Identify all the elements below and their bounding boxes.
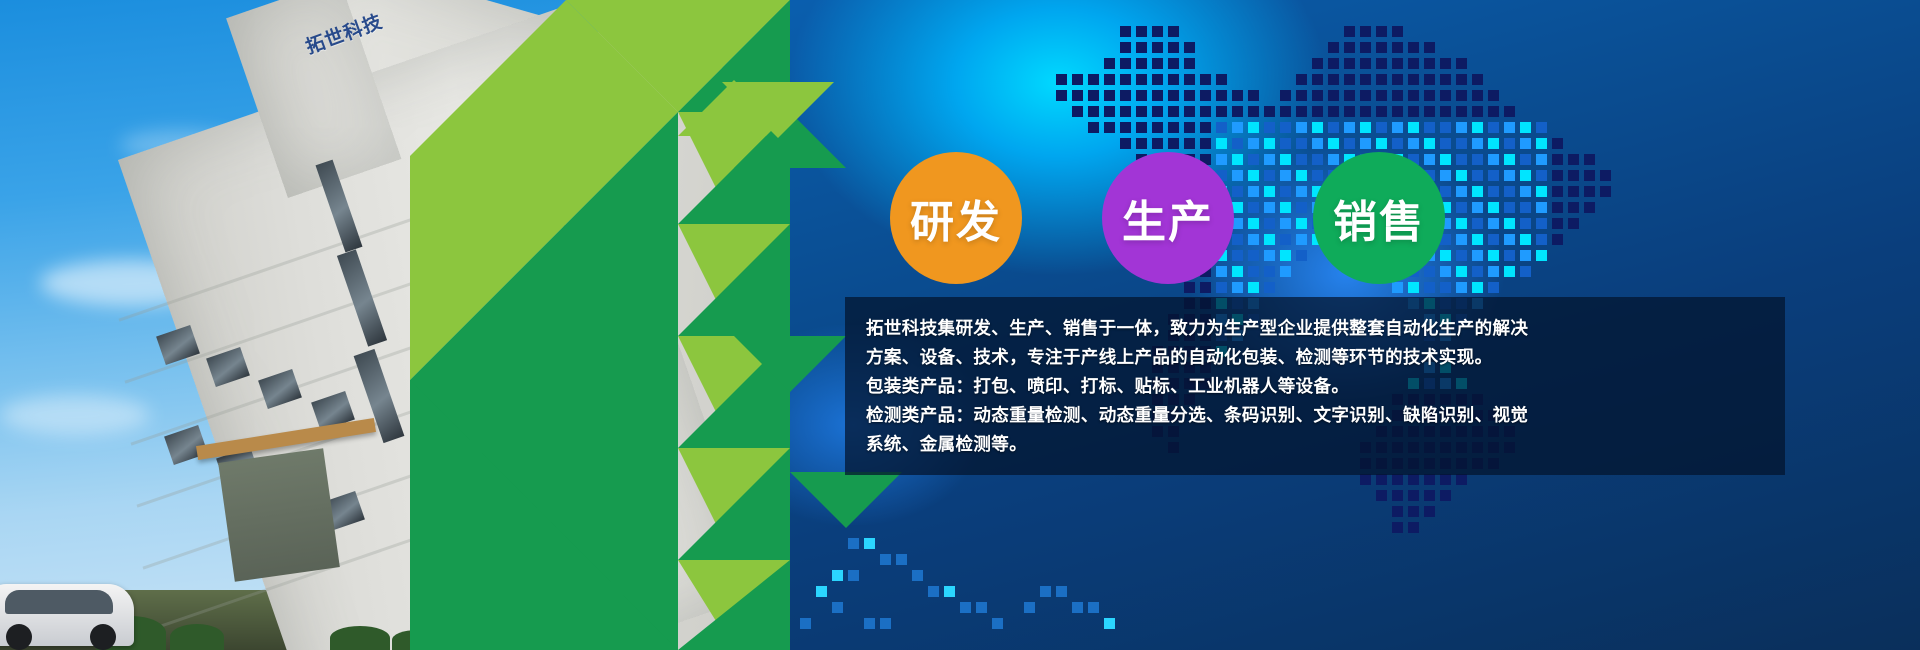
map-dot bbox=[1440, 58, 1451, 69]
map-dot bbox=[1408, 74, 1419, 85]
map-dot bbox=[1472, 234, 1483, 245]
map-dot bbox=[1232, 266, 1243, 277]
map-dot bbox=[1200, 90, 1211, 101]
map-dot bbox=[1312, 122, 1323, 133]
map-dot bbox=[1456, 154, 1467, 165]
map-dot bbox=[1536, 218, 1547, 229]
map-dot bbox=[1120, 106, 1131, 117]
map-dot bbox=[1552, 218, 1563, 229]
map-dot bbox=[1376, 122, 1387, 133]
map-dot bbox=[1536, 170, 1547, 181]
map-dot bbox=[1232, 90, 1243, 101]
map-dot bbox=[1408, 474, 1419, 485]
map-dot bbox=[1392, 90, 1403, 101]
map-dot bbox=[1056, 90, 1067, 101]
map-dot bbox=[1296, 138, 1307, 149]
map-dot bbox=[1200, 282, 1211, 293]
map-dot bbox=[1488, 170, 1499, 181]
description-line: 检测类产品：动态重量检测、动态重量分选、条码识别、文字识别、缺陷识别、视觉 bbox=[866, 402, 1766, 431]
map-dot bbox=[1184, 122, 1195, 133]
map-dot bbox=[1216, 106, 1227, 117]
map-dot bbox=[1456, 122, 1467, 133]
map-dot bbox=[1216, 122, 1227, 133]
map-dot bbox=[1168, 26, 1179, 37]
map-dot bbox=[1168, 90, 1179, 101]
map-dot bbox=[1280, 202, 1291, 213]
map-dot bbox=[1408, 282, 1419, 293]
map-dot bbox=[1264, 234, 1275, 245]
map-dot bbox=[1408, 138, 1419, 149]
map-dot bbox=[1312, 106, 1323, 117]
description-line: 拓世科技集研发、生产、销售于一体，致力为生产型企业提供整套自动化生产的解决 bbox=[866, 315, 1766, 344]
map-dot bbox=[1472, 90, 1483, 101]
map-dot bbox=[1232, 282, 1243, 293]
map-dot bbox=[1456, 58, 1467, 69]
map-dot bbox=[1536, 186, 1547, 197]
map-dot bbox=[1184, 58, 1195, 69]
map-dot bbox=[1152, 42, 1163, 53]
map-dot bbox=[1328, 122, 1339, 133]
map-dot bbox=[1152, 138, 1163, 149]
map-dot bbox=[1168, 42, 1179, 53]
map-dot bbox=[1232, 234, 1243, 245]
map-dot bbox=[1040, 586, 1051, 597]
map-dot bbox=[1520, 202, 1531, 213]
map-dot bbox=[1216, 282, 1227, 293]
map-dot bbox=[1088, 90, 1099, 101]
map-dot bbox=[1408, 490, 1419, 501]
map-dot bbox=[1440, 170, 1451, 181]
map-dot bbox=[1232, 250, 1243, 261]
map-dot bbox=[1504, 138, 1515, 149]
map-dot bbox=[1232, 138, 1243, 149]
map-dot bbox=[1392, 26, 1403, 37]
map-dot bbox=[1280, 90, 1291, 101]
map-dot bbox=[1280, 170, 1291, 181]
map-dot bbox=[1504, 202, 1515, 213]
map-dot bbox=[1120, 90, 1131, 101]
map-dot bbox=[1152, 26, 1163, 37]
map-dot bbox=[1344, 90, 1355, 101]
map-dot bbox=[1120, 42, 1131, 53]
map-dot bbox=[1296, 170, 1307, 181]
map-dot bbox=[1328, 74, 1339, 85]
map-dot bbox=[1168, 74, 1179, 85]
map-dot bbox=[1424, 122, 1435, 133]
map-dot bbox=[1312, 74, 1323, 85]
map-dot bbox=[1360, 90, 1371, 101]
map-dot bbox=[1344, 138, 1355, 149]
map-dot bbox=[1488, 282, 1499, 293]
map-dot bbox=[1440, 282, 1451, 293]
map-dot bbox=[1488, 202, 1499, 213]
map-dot bbox=[1392, 282, 1403, 293]
map-dot bbox=[1472, 186, 1483, 197]
map-dot bbox=[1472, 74, 1483, 85]
map-dot bbox=[1280, 186, 1291, 197]
map-dot bbox=[1200, 74, 1211, 85]
map-dot bbox=[1552, 234, 1563, 245]
map-dot bbox=[1504, 186, 1515, 197]
map-dot bbox=[1264, 138, 1275, 149]
map-dot bbox=[1136, 26, 1147, 37]
map-dot bbox=[1488, 186, 1499, 197]
map-dot bbox=[1136, 90, 1147, 101]
map-dot bbox=[1120, 138, 1131, 149]
map-dot bbox=[1424, 106, 1435, 117]
map-dot bbox=[1200, 122, 1211, 133]
map-dot bbox=[1264, 250, 1275, 261]
map-dot bbox=[1584, 170, 1595, 181]
map-dot bbox=[1424, 282, 1435, 293]
map-dot bbox=[1360, 42, 1371, 53]
map-dot bbox=[1488, 234, 1499, 245]
map-dot bbox=[1280, 138, 1291, 149]
map-dot bbox=[1360, 138, 1371, 149]
map-dot bbox=[1136, 122, 1147, 133]
map-dot bbox=[1520, 154, 1531, 165]
map-dot bbox=[1248, 90, 1259, 101]
map-dot bbox=[1248, 218, 1259, 229]
map-dot bbox=[1392, 506, 1403, 517]
map-dot bbox=[1360, 26, 1371, 37]
map-dot bbox=[1136, 42, 1147, 53]
map-dot bbox=[1328, 42, 1339, 53]
map-dot bbox=[1216, 138, 1227, 149]
description-text: 拓世科技集研发、生产、销售于一体，致力为生产型企业提供整套自动化生产的解决 方案… bbox=[866, 315, 1766, 460]
map-dot bbox=[1488, 138, 1499, 149]
map-dot bbox=[1328, 138, 1339, 149]
map-dot bbox=[1536, 234, 1547, 245]
map-dot bbox=[1504, 266, 1515, 277]
map-dot bbox=[1152, 74, 1163, 85]
map-dot bbox=[1408, 58, 1419, 69]
map-dot bbox=[1232, 122, 1243, 133]
map-dot bbox=[1376, 490, 1387, 501]
map-dot bbox=[1360, 74, 1371, 85]
map-dot bbox=[1488, 218, 1499, 229]
map-dot bbox=[1504, 218, 1515, 229]
map-dot bbox=[1200, 138, 1211, 149]
map-dot bbox=[1328, 90, 1339, 101]
map-dot bbox=[1232, 154, 1243, 165]
map-dot bbox=[1376, 42, 1387, 53]
map-dot bbox=[1392, 58, 1403, 69]
map-dot bbox=[1440, 266, 1451, 277]
map-dot bbox=[1520, 234, 1531, 245]
map-dot bbox=[1392, 42, 1403, 53]
map-dot bbox=[1264, 218, 1275, 229]
map-dot bbox=[1504, 106, 1515, 117]
map-dot bbox=[1552, 138, 1563, 149]
map-dot bbox=[1296, 218, 1307, 229]
map-dot bbox=[1344, 74, 1355, 85]
map-dot bbox=[1104, 58, 1115, 69]
map-dot bbox=[1248, 202, 1259, 213]
map-dot bbox=[1248, 234, 1259, 245]
map-dot bbox=[1440, 250, 1451, 261]
map-dot bbox=[1152, 58, 1163, 69]
map-dot bbox=[1440, 74, 1451, 85]
map-dot bbox=[1280, 234, 1291, 245]
map-dot bbox=[1056, 74, 1067, 85]
map-dot bbox=[1184, 106, 1195, 117]
map-dot bbox=[1104, 106, 1115, 117]
map-dot bbox=[1536, 138, 1547, 149]
map-dot bbox=[1568, 154, 1579, 165]
map-dot bbox=[1312, 58, 1323, 69]
map-dot bbox=[1152, 122, 1163, 133]
map-dot bbox=[1280, 122, 1291, 133]
map-dot bbox=[1456, 170, 1467, 181]
map-dot bbox=[1120, 26, 1131, 37]
map-dot bbox=[1456, 202, 1467, 213]
map-dot bbox=[1440, 90, 1451, 101]
description-line: 系统、金属检测等。 bbox=[866, 431, 1766, 460]
map-dot bbox=[1248, 170, 1259, 181]
map-dot bbox=[1568, 202, 1579, 213]
badge-circle-rd[interactable]: 研发 bbox=[890, 152, 1022, 284]
map-dot bbox=[1184, 282, 1195, 293]
map-dot bbox=[1424, 58, 1435, 69]
map-dot bbox=[1392, 138, 1403, 149]
map-dot bbox=[1488, 266, 1499, 277]
map-dot bbox=[1072, 90, 1083, 101]
map-dot bbox=[1456, 106, 1467, 117]
map-dot bbox=[1360, 106, 1371, 117]
map-dot bbox=[1440, 490, 1451, 501]
map-dot bbox=[1456, 218, 1467, 229]
map-dot bbox=[1456, 474, 1467, 485]
map-dot bbox=[1136, 74, 1147, 85]
map-dot bbox=[1280, 250, 1291, 261]
map-dot bbox=[1504, 170, 1515, 181]
map-dot bbox=[1440, 186, 1451, 197]
map-dot bbox=[1344, 58, 1355, 69]
map-dot bbox=[1456, 138, 1467, 149]
map-dot bbox=[1584, 186, 1595, 197]
map-dot bbox=[1504, 234, 1515, 245]
map-dot bbox=[1024, 602, 1035, 613]
map-dot bbox=[1248, 106, 1259, 117]
map-dot bbox=[1072, 602, 1083, 613]
map-dot bbox=[1568, 170, 1579, 181]
map-dot bbox=[1440, 474, 1451, 485]
description-line: 方案、设备、技术，专注于产线上产品的自动化包装、检测等环节的技术实现。 bbox=[866, 344, 1766, 373]
map-dot bbox=[1520, 122, 1531, 133]
map-dot bbox=[1232, 186, 1243, 197]
map-dot bbox=[1408, 106, 1419, 117]
map-dot bbox=[1536, 250, 1547, 261]
map-dot bbox=[1104, 74, 1115, 85]
map-dot bbox=[1408, 90, 1419, 101]
map-dot bbox=[1488, 106, 1499, 117]
map-dot bbox=[1392, 74, 1403, 85]
map-dot bbox=[1520, 218, 1531, 229]
map-dot bbox=[1376, 90, 1387, 101]
badge-circle-sales[interactable]: 销售 bbox=[1313, 152, 1445, 284]
map-dot bbox=[1488, 90, 1499, 101]
map-dot bbox=[1216, 266, 1227, 277]
map-dot bbox=[1472, 106, 1483, 117]
map-dot bbox=[1056, 586, 1067, 597]
map-dot bbox=[1344, 42, 1355, 53]
map-dot bbox=[1168, 58, 1179, 69]
triangle-float-dark-c bbox=[790, 472, 902, 528]
badge-label-production: 生产 bbox=[1122, 186, 1214, 250]
map-dot bbox=[1296, 234, 1307, 245]
map-dot bbox=[1424, 138, 1435, 149]
map-dot bbox=[1248, 186, 1259, 197]
map-dot bbox=[1536, 122, 1547, 133]
map-dot bbox=[1504, 250, 1515, 261]
map-dot bbox=[1184, 74, 1195, 85]
map-dot bbox=[1216, 90, 1227, 101]
map-dot bbox=[1088, 74, 1099, 85]
map-dot bbox=[1376, 138, 1387, 149]
map-dot bbox=[1232, 106, 1243, 117]
map-dot bbox=[1328, 154, 1339, 165]
map-dot bbox=[1328, 106, 1339, 117]
map-dot bbox=[1376, 106, 1387, 117]
map-dot bbox=[1264, 202, 1275, 213]
map-dot bbox=[1088, 106, 1099, 117]
map-dot bbox=[1104, 618, 1115, 629]
map-dot bbox=[1280, 218, 1291, 229]
map-dot bbox=[1392, 522, 1403, 533]
map-dot bbox=[1456, 90, 1467, 101]
map-dot bbox=[1520, 170, 1531, 181]
banner-stage: 拓世科技 研发 生产 销售 拓世科技集研发、生产、销售于一体，致力为生产型企业提… bbox=[0, 0, 1920, 650]
map-dot bbox=[1184, 90, 1195, 101]
map-dot bbox=[1552, 202, 1563, 213]
map-dot bbox=[1472, 218, 1483, 229]
map-dot bbox=[1296, 154, 1307, 165]
map-dot bbox=[1312, 154, 1323, 165]
map-dot bbox=[1408, 522, 1419, 533]
map-dot bbox=[1232, 170, 1243, 181]
map-dot bbox=[1392, 106, 1403, 117]
map-dot bbox=[1120, 122, 1131, 133]
map-dot bbox=[1376, 58, 1387, 69]
map-dot bbox=[1520, 186, 1531, 197]
map-dot bbox=[1584, 154, 1595, 165]
map-dot bbox=[1600, 170, 1611, 181]
map-dot bbox=[1488, 250, 1499, 261]
map-dot bbox=[1248, 154, 1259, 165]
map-dot bbox=[1088, 122, 1099, 133]
map-dot bbox=[1424, 154, 1435, 165]
map-dot bbox=[1456, 250, 1467, 261]
map-dot bbox=[1440, 138, 1451, 149]
map-dot bbox=[1504, 154, 1515, 165]
map-dot bbox=[1248, 138, 1259, 149]
map-dot bbox=[1360, 122, 1371, 133]
map-dot bbox=[1264, 170, 1275, 181]
map-dot bbox=[1184, 42, 1195, 53]
map-dot bbox=[1536, 202, 1547, 213]
map-dot bbox=[1072, 106, 1083, 117]
map-dot bbox=[1344, 106, 1355, 117]
badge-label-rd: 研发 bbox=[910, 186, 1002, 250]
map-dot bbox=[1472, 266, 1483, 277]
map-dot bbox=[1376, 474, 1387, 485]
map-dot bbox=[1248, 250, 1259, 261]
map-dot bbox=[1216, 74, 1227, 85]
map-dot bbox=[1424, 490, 1435, 501]
map-dot bbox=[1488, 154, 1499, 165]
map-dot bbox=[1408, 506, 1419, 517]
map-dot bbox=[1552, 186, 1563, 197]
map-dot bbox=[1328, 58, 1339, 69]
map-dot bbox=[1392, 490, 1403, 501]
map-dot bbox=[1296, 90, 1307, 101]
map-dot bbox=[1296, 122, 1307, 133]
map-dot bbox=[1520, 250, 1531, 261]
map-dot bbox=[1360, 474, 1371, 485]
map-dot bbox=[1104, 122, 1115, 133]
map-dot bbox=[1120, 74, 1131, 85]
map-dot bbox=[1472, 170, 1483, 181]
map-dot bbox=[1440, 154, 1451, 165]
map-dot bbox=[1168, 106, 1179, 117]
map-dot bbox=[1312, 138, 1323, 149]
map-dot bbox=[1376, 74, 1387, 85]
map-dot bbox=[1216, 154, 1227, 165]
map-dot bbox=[1200, 106, 1211, 117]
map-dot bbox=[1552, 170, 1563, 181]
map-dot bbox=[1264, 186, 1275, 197]
map-dot bbox=[1264, 266, 1275, 277]
map-dot bbox=[1248, 266, 1259, 277]
map-dot bbox=[1264, 282, 1275, 293]
map-dot bbox=[1312, 170, 1323, 181]
map-dot bbox=[1456, 234, 1467, 245]
map-dot bbox=[1152, 90, 1163, 101]
map-dot bbox=[1424, 266, 1435, 277]
map-dot bbox=[1296, 106, 1307, 117]
map-dot bbox=[1568, 186, 1579, 197]
map-dot bbox=[1280, 266, 1291, 277]
map-dot bbox=[1088, 602, 1099, 613]
map-dot bbox=[1280, 106, 1291, 117]
map-dot bbox=[1136, 138, 1147, 149]
map-dot bbox=[1264, 154, 1275, 165]
map-dot bbox=[1472, 250, 1483, 261]
map-dot bbox=[1440, 106, 1451, 117]
map-dot bbox=[1472, 202, 1483, 213]
badge-circle-production[interactable]: 生产 bbox=[1102, 152, 1234, 284]
map-dot bbox=[1152, 106, 1163, 117]
map-dot bbox=[1120, 58, 1131, 69]
map-dot bbox=[1184, 138, 1195, 149]
map-dot bbox=[1104, 90, 1115, 101]
map-dot bbox=[1424, 42, 1435, 53]
map-dot bbox=[1344, 26, 1355, 37]
map-dot bbox=[1424, 90, 1435, 101]
map-dot bbox=[1600, 186, 1611, 197]
map-dot bbox=[1456, 282, 1467, 293]
map-dot bbox=[1296, 202, 1307, 213]
map-dot bbox=[1472, 154, 1483, 165]
map-dot bbox=[1520, 266, 1531, 277]
map-dot bbox=[1424, 506, 1435, 517]
map-dot bbox=[1584, 202, 1595, 213]
map-dot bbox=[1552, 154, 1563, 165]
map-dot bbox=[1392, 474, 1403, 485]
map-dot bbox=[1488, 122, 1499, 133]
map-dot bbox=[1456, 186, 1467, 197]
